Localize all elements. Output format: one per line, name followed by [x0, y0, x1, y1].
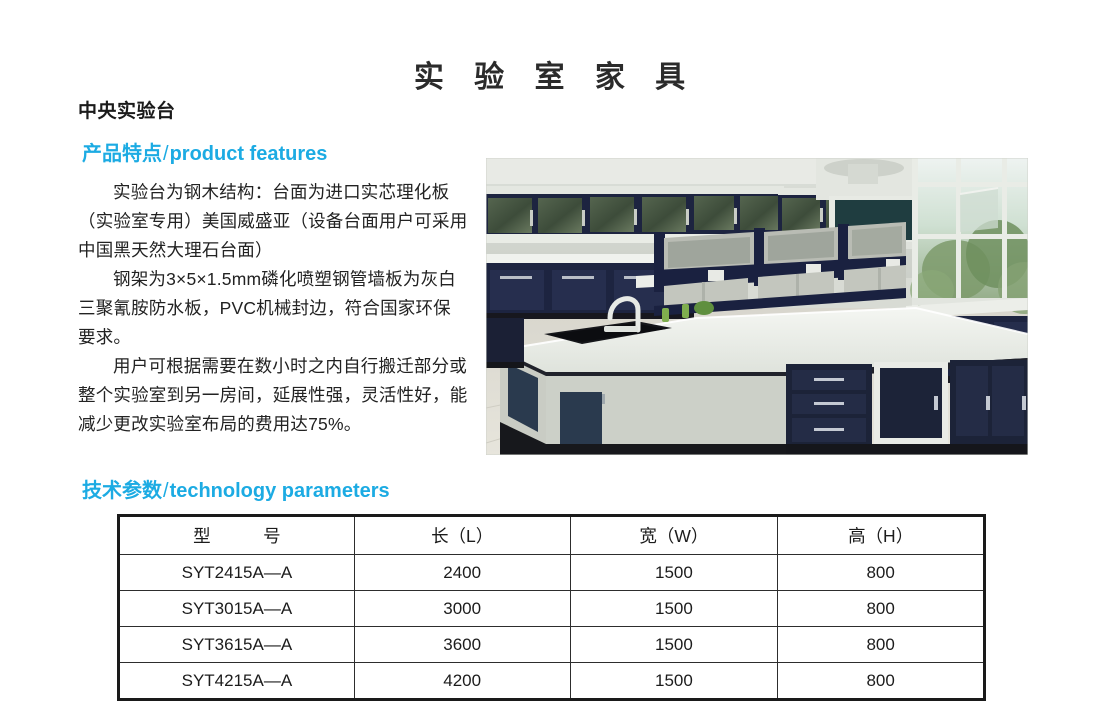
- cell-height: 800: [778, 663, 983, 699]
- cell-model: SYT4215A—A: [120, 663, 354, 699]
- cell-length: 2400: [354, 555, 570, 591]
- cell-height: 800: [778, 627, 983, 663]
- features-body: 实验台为钢木结构：台面为进口实芯理化板（实验室专用）美国威盛亚（设备台面用户可采…: [78, 178, 468, 439]
- cell-width: 1500: [570, 663, 778, 699]
- features-paragraph-1: 实验台为钢木结构：台面为进口实芯理化板（实验室专用）美国威盛亚（设备台面用户可采…: [78, 178, 468, 265]
- cell-height: 800: [778, 591, 983, 627]
- table-header-row: 型 号 长（L） 宽（W） 高（H）: [120, 517, 983, 555]
- product-features-heading-en: product features: [170, 143, 328, 165]
- cell-model: SYT3615A—A: [120, 627, 354, 663]
- spec-table-container: 型 号 长（L） 宽（W） 高（H） SYT2415A—A 2400 1500 …: [117, 514, 986, 701]
- cell-width: 1500: [570, 555, 778, 591]
- specifications-table: 型 号 长（L） 宽（W） 高（H） SYT2415A—A 2400 1500 …: [120, 517, 983, 698]
- laboratory-photo: [486, 158, 1028, 455]
- cell-length: 3600: [354, 627, 570, 663]
- technology-parameters-heading: 技术参数/technology parameters: [82, 474, 390, 503]
- cell-height: 800: [778, 555, 983, 591]
- technology-parameters-heading-separator: /: [162, 480, 170, 502]
- technology-parameters-heading-cn: 技术参数: [82, 480, 162, 502]
- section-subtitle: 中央实验台: [78, 96, 468, 123]
- features-paragraph-2: 钢架为3×5×1.5mm磷化喷塑钢管墙板为灰白三聚氰胺防水板，PVC机械封边，符…: [78, 265, 468, 352]
- table-row: SYT4215A—A 4200 1500 800: [120, 663, 983, 699]
- product-features-heading-cn: 产品特点: [82, 143, 162, 165]
- product-features-heading: 产品特点/product features: [82, 137, 468, 166]
- technology-parameters-heading-en: technology parameters: [170, 480, 390, 502]
- product-features-heading-separator: /: [162, 143, 170, 165]
- features-column: 中央实验台 产品特点/product features 实验台为钢木结构：台面为…: [78, 96, 468, 439]
- table-row: SYT3015A—A 3000 1500 800: [120, 591, 983, 627]
- table-row: SYT2415A—A 2400 1500 800: [120, 555, 983, 591]
- cell-model: SYT3015A—A: [120, 591, 354, 627]
- table-header-height: 高（H）: [778, 517, 983, 555]
- cell-model: SYT2415A—A: [120, 555, 354, 591]
- cell-length: 4200: [354, 663, 570, 699]
- cell-width: 1500: [570, 627, 778, 663]
- table-header-width: 宽（W）: [570, 517, 778, 555]
- table-row: SYT3615A—A 3600 1500 800: [120, 627, 983, 663]
- table-header-length: 长（L）: [354, 517, 570, 555]
- features-paragraph-3: 用户可根据需要在数小时之内自行搬迁部分或整个实验室到另一房间，延展性强，灵活性好…: [78, 352, 468, 439]
- page-title: 实 验 室 家 具: [0, 52, 1099, 96]
- cell-width: 1500: [570, 591, 778, 627]
- cell-length: 3000: [354, 591, 570, 627]
- table-header-model: 型 号: [120, 517, 354, 555]
